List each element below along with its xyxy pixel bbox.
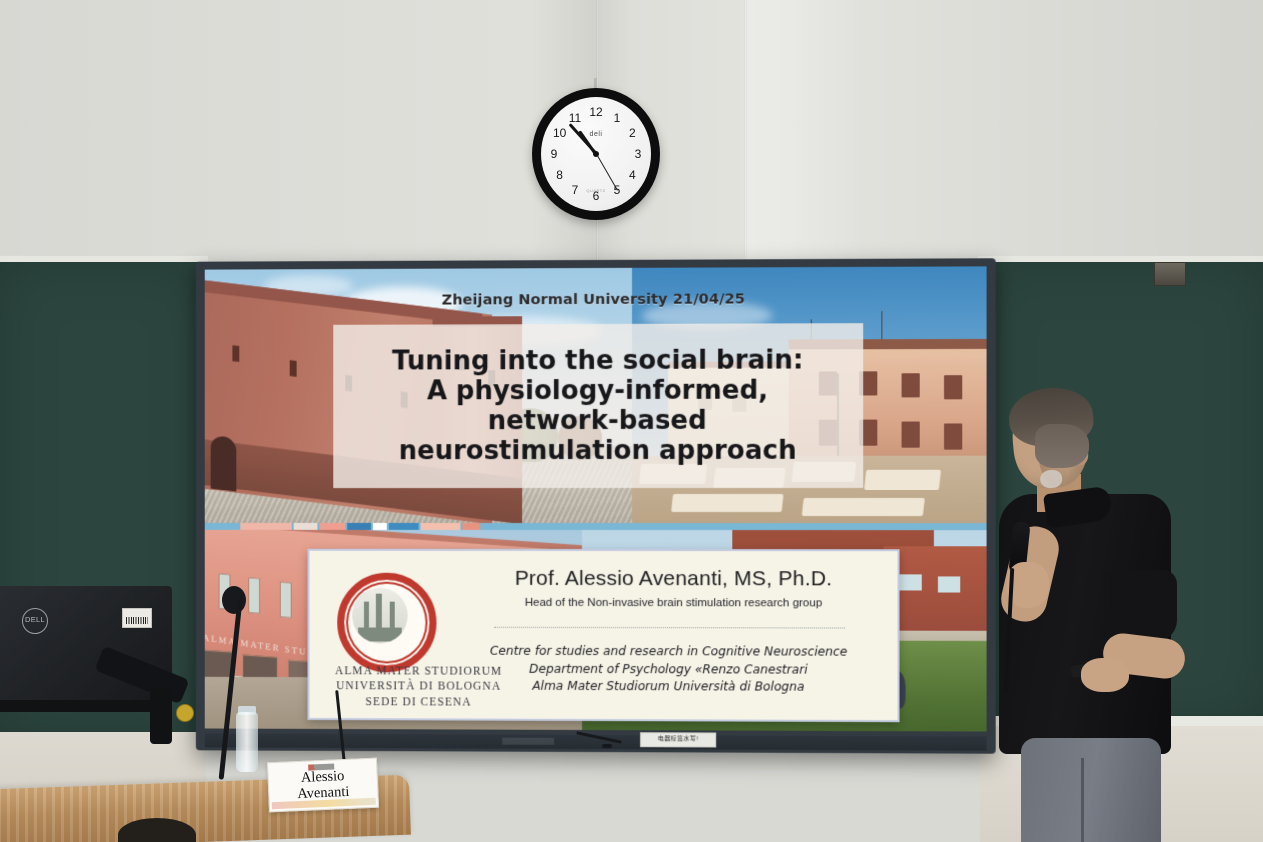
- presenter-figure: [985, 386, 1200, 842]
- seal-char: S: [361, 643, 367, 650]
- window: [290, 360, 297, 377]
- asset-tag-sticker: [122, 608, 152, 628]
- clock-numeral-4: 4: [624, 168, 640, 182]
- presentation-slide: ALMA MATER STUDIORUM: [205, 266, 987, 731]
- university-seal-icon: ALMA MATER STUDIORUM · CESENA: [337, 573, 436, 673]
- wall-seam-right: [744, 0, 747, 272]
- slide-title-line-2: A physiology-informed,: [427, 375, 768, 406]
- ir-receiver: [602, 744, 612, 748]
- window: [900, 574, 922, 590]
- slide-title-panel: Tuning into the social brain: A physiolo…: [333, 323, 863, 488]
- antenna: [881, 311, 882, 341]
- wall-clock: deli QUARTZ 121234567891011: [532, 88, 660, 220]
- presenter-hand-with-clicker: [1081, 658, 1129, 692]
- goatee: [1039, 469, 1062, 489]
- seal-emblem: [352, 588, 408, 644]
- seal-char: C: [374, 650, 379, 657]
- clock-numeral-2: 2: [624, 126, 640, 140]
- dell-monitor-rear: DELL: [0, 586, 172, 710]
- fortress-gate: [211, 435, 237, 492]
- desk-name-card: Alessio Avenanti: [267, 758, 379, 813]
- university-wordmark: ALMA MATER STUDIORUM UNIVERSITÀ DI BOLOG…: [319, 664, 518, 711]
- card-divider: [494, 627, 845, 629]
- affiliation-line-1: Centre for studies and research in Cogni…: [448, 643, 889, 662]
- seal-base: [358, 627, 402, 641]
- slide-title-line-1: Tuning into the social brain:: [392, 345, 803, 376]
- clock-numeral-1: 1: [609, 111, 625, 125]
- gooseneck-mic-head: [222, 586, 246, 614]
- monitor-arm-knob: [176, 704, 194, 722]
- water-bottle: [236, 712, 258, 772]
- seal-char: R: [410, 638, 417, 644]
- university-line-1: ALMA MATER STUDIORUM: [319, 664, 518, 680]
- seal-char: S: [408, 598, 415, 605]
- wall-corner-highlight: [744, 0, 864, 300]
- speaker-name: Prof. Alessio Avenanti, MS, Ph.D.: [458, 567, 889, 592]
- interactive-display-panel[interactable]: ALMA MATER STUDIORUM: [196, 258, 996, 753]
- seal-char: T: [412, 604, 419, 610]
- presenter-hair-side: [1035, 424, 1089, 468]
- seal-spire: [390, 602, 395, 630]
- clock-numeral-12: 12: [588, 105, 604, 119]
- wall-speaker-box: [1154, 262, 1186, 286]
- window: [944, 375, 962, 399]
- seal-char: E: [367, 647, 373, 654]
- monitor-bottom-edge: [0, 700, 172, 712]
- dell-logo-icon: DELL: [22, 608, 48, 634]
- monitor-arm-post: [150, 688, 172, 744]
- seal-char: D: [416, 619, 422, 623]
- clock-numeral-7: 7: [567, 183, 583, 197]
- seal-char: U: [406, 643, 413, 650]
- lecture-hall-photo: deli QUARTZ 121234567891011: [0, 0, 1263, 842]
- window: [938, 576, 960, 592]
- window: [902, 422, 920, 448]
- presenter-leg-seam: [1081, 758, 1084, 842]
- market-stall: [864, 470, 941, 490]
- clock-bezel: deli QUARTZ 121234567891011: [532, 88, 660, 220]
- slide-title-line-3: network-based: [488, 406, 707, 436]
- seal-char: U: [415, 611, 422, 616]
- window: [248, 577, 260, 614]
- university-line-2: UNIVERSITÀ DI BOLOGNA: [319, 679, 518, 695]
- window: [902, 373, 920, 397]
- presenter-legs: [1021, 738, 1161, 842]
- clock-numeral-9: 9: [546, 147, 562, 161]
- seal-char: ·: [390, 652, 393, 658]
- window: [280, 582, 292, 619]
- clock-numeral-10: 10: [552, 126, 568, 140]
- display-brand-logo: [502, 738, 554, 745]
- speaker-role: Head of the Non-invasive brain stimulati…: [458, 597, 889, 610]
- seal-spire: [376, 594, 382, 628]
- window: [944, 423, 962, 449]
- clock-minute-hand: [568, 123, 597, 154]
- clock-face: deli QUARTZ 121234567891011: [541, 97, 651, 211]
- display-screen[interactable]: ALMA MATER STUDIORUM: [205, 266, 987, 731]
- slide-header-text: Zheijang Normal University 21/04/25: [205, 291, 987, 310]
- market-stall: [671, 494, 783, 512]
- seal-char: I: [416, 626, 422, 628]
- slide-title-line-4: neurostimulation approach: [399, 436, 797, 467]
- university-line-3: SEDE DI CESENA: [319, 695, 518, 711]
- seal-char: M: [400, 647, 407, 654]
- seal-char: O: [414, 632, 421, 638]
- window: [232, 345, 239, 362]
- clock-numeral-3: 3: [630, 147, 646, 161]
- clock-second-hand: [596, 154, 618, 191]
- seal-spire: [364, 602, 369, 630]
- speaker-info-card: ALMA MATER STUDIORUM · CESENA Prof. Ales…: [308, 549, 900, 722]
- market-stall: [802, 498, 925, 516]
- clock-numeral-6: 6: [588, 189, 604, 203]
- clock-center-pin: [593, 151, 599, 157]
- clock-numeral-8: 8: [552, 168, 568, 182]
- bezel-label-sticker: 电器标签水写!: [640, 732, 716, 747]
- presenter-sleeve: [1105, 570, 1177, 642]
